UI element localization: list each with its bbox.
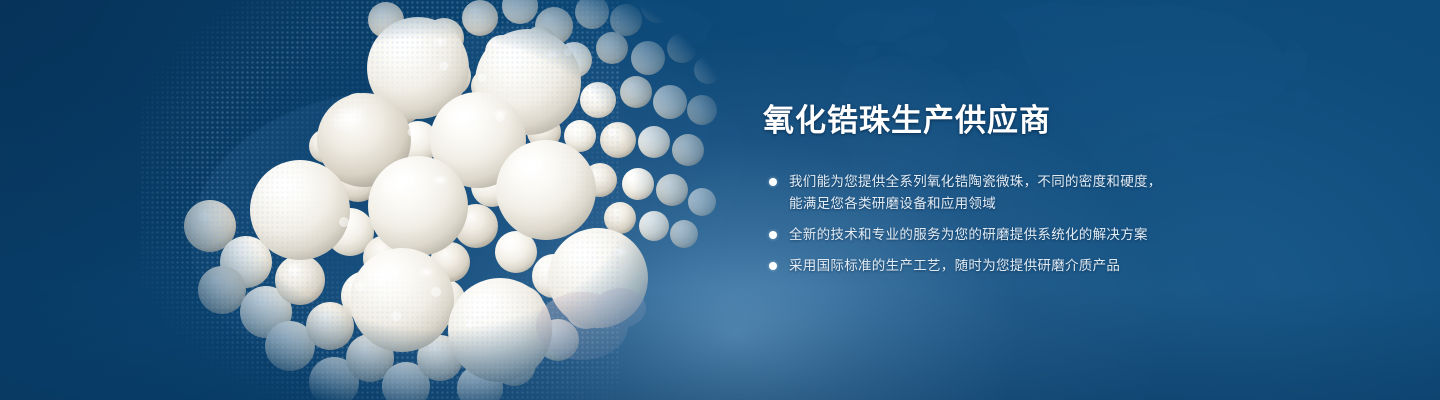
list-item: 全新的技术和专业的服务为您的研磨提供系统化的解决方案 <box>763 224 1403 246</box>
hero-banner: 氧化锆珠生产供应商 我们能为您提供全系列氧化锆陶瓷微珠，不同的密度和硬度， 能满… <box>0 0 1440 400</box>
list-item-line: 全新的技术和专业的服务为您的研磨提供系统化的解决方案 <box>789 224 1403 246</box>
dot-bullet-icon <box>769 262 777 270</box>
list-item-line: 我们能为您提供全系列氧化锆陶瓷微珠，不同的密度和硬度， <box>789 171 1403 193</box>
list-item: 我们能为您提供全系列氧化锆陶瓷微珠，不同的密度和硬度， 能满足您各类研磨设备和应… <box>763 171 1403 215</box>
zirconia-beads-image <box>150 0 720 400</box>
list-item-line: 采用国际标准的生产工艺，随时为您提供研磨介质产品 <box>789 255 1403 277</box>
banner-copy: 氧化锆珠生产供应商 我们能为您提供全系列氧化锆陶瓷微珠，不同的密度和硬度， 能满… <box>763 104 1403 277</box>
feature-list: 我们能为您提供全系列氧化锆陶瓷微珠，不同的密度和硬度， 能满足您各类研磨设备和应… <box>763 171 1403 277</box>
list-item-line: 能满足您各类研磨设备和应用领域 <box>789 193 1403 215</box>
dot-bullet-icon <box>769 178 777 186</box>
list-item: 采用国际标准的生产工艺，随时为您提供研磨介质产品 <box>763 255 1403 277</box>
dot-bullet-icon <box>769 231 777 239</box>
page-title: 氧化锆珠生产供应商 <box>763 104 1403 138</box>
